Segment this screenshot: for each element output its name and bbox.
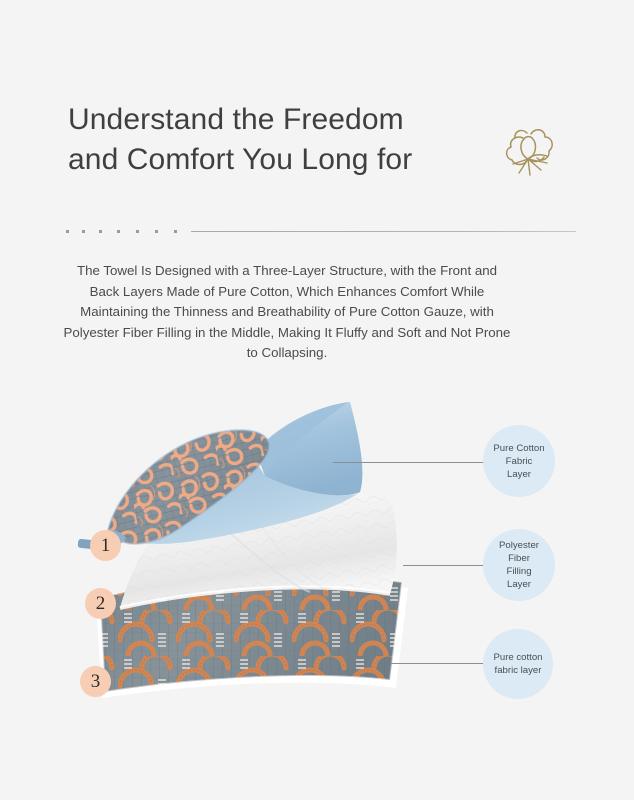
callout-1-line-3: Layer [493,468,544,481]
intro-paragraph: The Towel Is Designed with a Three-Layer… [63,261,511,364]
layer-marker-1[interactable]: 1 [90,530,121,561]
divider-dot [174,230,177,233]
layer-marker-1-label: 1 [101,535,111,557]
callout-3-line-1: Pure cotton [493,651,542,664]
callout-pure-cotton-fabric-layer-bottom[interactable]: Pure cotton fabric layer [483,629,553,699]
divider-dot [117,230,120,233]
decorative-divider [66,226,576,238]
divider-dot [155,230,158,233]
divider-dot [82,230,85,233]
divider-dot [99,230,102,233]
callout-2-line-1: Polyester [499,539,539,552]
divider-line [191,231,576,232]
divider-dot [66,230,69,233]
layer-marker-2-label: 2 [96,593,106,615]
page-title-line-1: Understand the Freedom [68,100,488,140]
callout-pure-cotton-fabric-layer[interactable]: Pure Cotton Fabric Layer [483,425,555,497]
leader-line-2 [403,565,488,566]
layer-marker-3-label: 3 [91,671,101,693]
layer-marker-3[interactable]: 3 [80,666,111,697]
callout-2-line-3: Filling [499,565,539,578]
cotton-flower-icon [497,118,563,184]
divider-dots [66,229,186,235]
callout-2-line-2: Fiber [499,552,539,565]
product-layer-diagram: 1 2 3 Pure Cotton Fabric Layer Polyester… [0,370,634,740]
callout-1-line-1: Pure Cotton [493,442,544,455]
leader-line-1 [333,462,488,463]
divider-dot [136,230,139,233]
page-title: Understand the Freedom and Comfort You L… [68,100,488,180]
callout-polyester-fiber-filling-layer[interactable]: Polyester Fiber Filling Layer [483,529,555,601]
callout-3-line-2: fabric layer [493,664,542,677]
callout-2-line-4: Layer [499,578,539,591]
layer-marker-2[interactable]: 2 [85,588,116,619]
page-header: Understand the Freedom and Comfort You L… [0,0,634,215]
callout-2-text: Polyester Fiber Filling Layer [493,539,545,591]
callout-1-text: Pure Cotton Fabric Layer [487,442,550,481]
leader-line-3 [390,663,488,664]
callout-1-line-2: Fabric [493,455,544,468]
callout-3-text: Pure cotton fabric layer [487,651,548,677]
page-title-line-2: and Comfort You Long for [68,140,488,180]
